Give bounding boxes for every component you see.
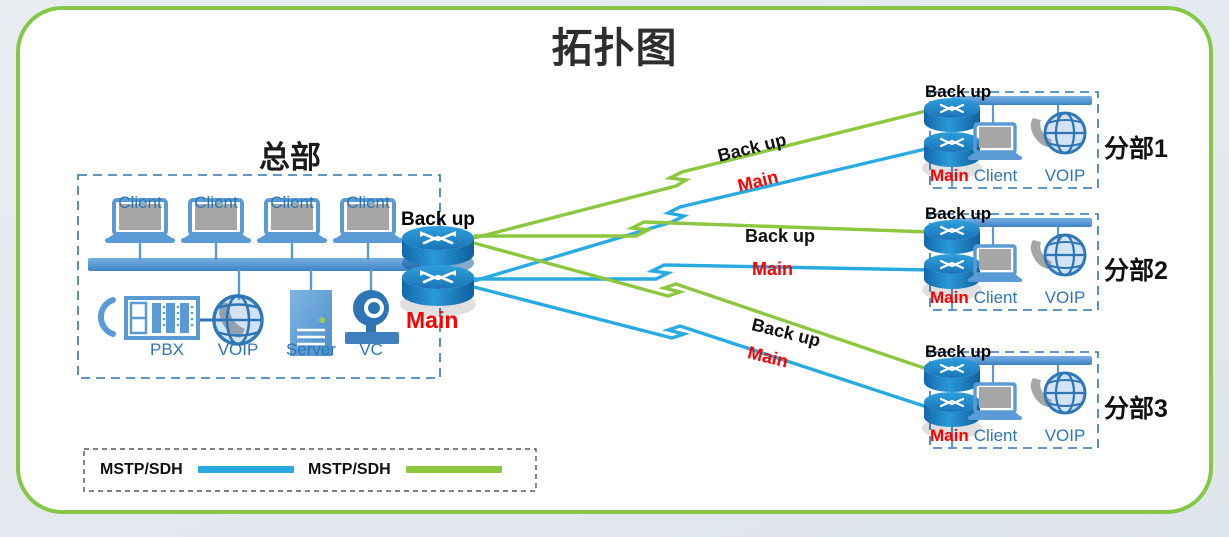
hq-title: 总部: [180, 132, 400, 177]
branch-2-router-backup-label: Back up: [925, 204, 991, 224]
hq-client-label-2: Client: [181, 193, 251, 212]
branch-3-client-icon[interactable]: [968, 384, 1022, 420]
branch-1-voip-icon[interactable]: [1031, 113, 1085, 153]
wan-label-branch2-backup: Back up: [745, 226, 815, 247]
wan-label-branch2-main: Main: [752, 259, 793, 280]
branch-2-client-icon[interactable]: [968, 246, 1022, 282]
hq-client-label-1: Client: [105, 193, 175, 212]
branch-3-title: 分部3: [1104, 389, 1168, 425]
branch-3-router-backup[interactable]: [924, 358, 980, 392]
branch-2-router-main-label: Main: [930, 288, 969, 308]
pbx-icon[interactable]: [101, 298, 198, 338]
hq-voip-label: VOIP: [211, 340, 265, 359]
wan-link-branch3-backup: [474, 243, 930, 370]
topology-diagram-page: 拓扑图 总部 Client Client Client Client PBX V…: [0, 0, 1229, 537]
voip-icon-hq[interactable]: [214, 296, 262, 344]
branch-1-client-label: Client: [968, 166, 1023, 185]
branch-1-client-icon[interactable]: [968, 124, 1022, 160]
diagram-canvas: [0, 0, 1229, 537]
branch-1-router-main-label: Main: [930, 166, 969, 186]
hq-pbx-label: PBX: [132, 340, 202, 359]
branch-1-router-backup-label: Back up: [925, 82, 991, 102]
hq-router-backup-label: Back up: [401, 209, 475, 231]
vc-icon[interactable]: [345, 290, 399, 344]
branch-2-voip-icon[interactable]: [1031, 235, 1085, 275]
hq-client-label-3: Client: [257, 193, 327, 212]
hq-vc-label: VC: [345, 340, 397, 359]
wan-link-branch2-backup: [474, 222, 930, 236]
branch-2-voip-label: VOIP: [1042, 288, 1088, 307]
legend-swatch-1: [406, 466, 502, 473]
branch-2-router-backup[interactable]: [924, 220, 980, 254]
legend-label-0: MSTP/SDH: [100, 461, 183, 479]
branch-2-client-label: Client: [968, 288, 1023, 307]
branch-3-router-backup-label: Back up: [925, 342, 991, 362]
branch-1-title: 分部1: [1104, 129, 1168, 165]
page-title: 拓扑图: [0, 14, 1229, 74]
branch-3-router-main-label: Main: [930, 426, 969, 446]
legend-swatch-0: [198, 466, 294, 473]
branch-3-voip-label: VOIP: [1042, 426, 1088, 445]
branch-3-client-label: Client: [968, 426, 1023, 445]
branch-3-voip-icon[interactable]: [1031, 373, 1085, 413]
hq-client-label-4: Client: [333, 193, 403, 212]
legend-label-1: MSTP/SDH: [308, 461, 391, 479]
hq-server-label: Server: [280, 340, 342, 359]
hq-router-main-label: Main: [406, 307, 458, 334]
wan-link-branch2-main: [474, 265, 930, 279]
branch-1-router-backup[interactable]: [924, 98, 980, 132]
branch-2-title: 分部2: [1104, 251, 1168, 287]
wan-link-branch1-backup: [474, 110, 930, 238]
branch-1-voip-label: VOIP: [1042, 166, 1088, 185]
